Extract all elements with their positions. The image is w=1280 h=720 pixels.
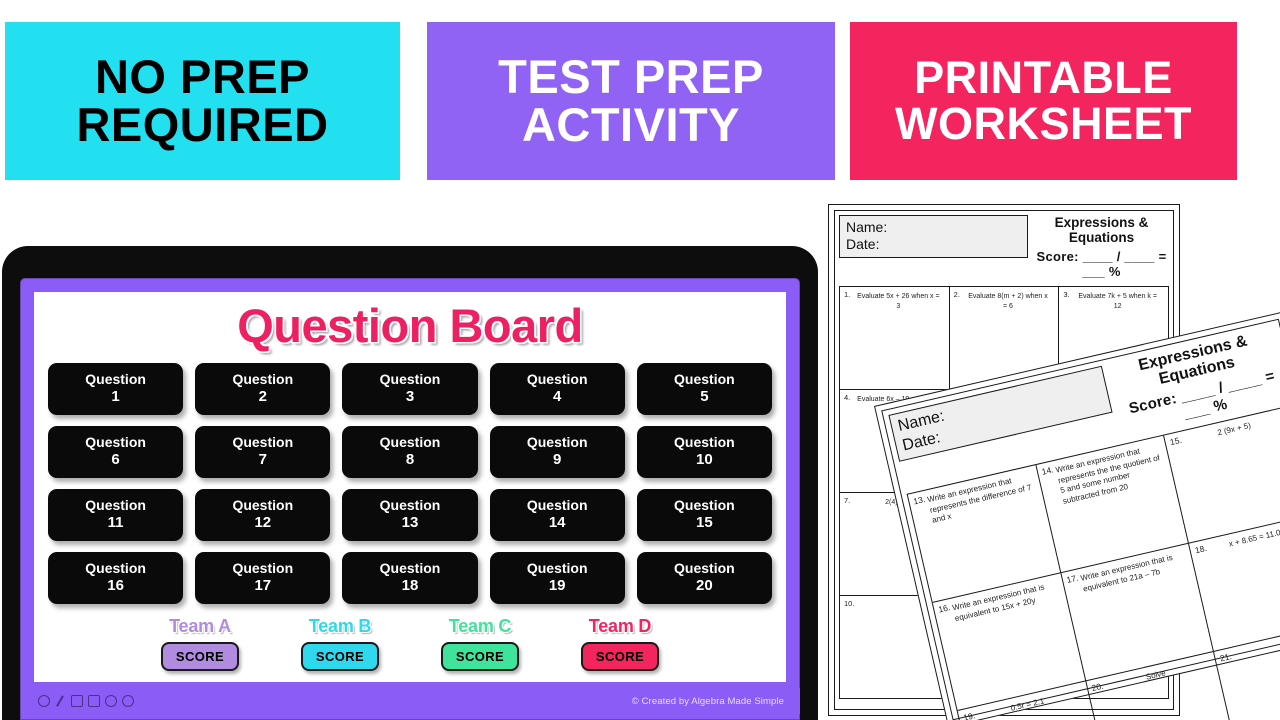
cell-text: Evaluate 7k + 5 when k = 12 — [1063, 290, 1164, 311]
name-date-box[interactable]: Name: Date: — [839, 215, 1028, 258]
question-label: Question — [674, 560, 735, 578]
marker-icon[interactable] — [71, 695, 83, 707]
cell-number: 1. — [844, 290, 850, 299]
worksheet-cell[interactable]: 1. Evaluate 5x + 26 when x = 3 — [840, 287, 950, 390]
question-number: 4 — [553, 388, 561, 407]
banner-no-prep: NO PREP REQUIRED — [5, 22, 400, 180]
worksheet-title-line1: Expressions & — [1034, 215, 1169, 230]
page-title: Question Board — [34, 298, 786, 353]
question-label: Question — [232, 371, 293, 389]
banner-printable: PRINTABLE WORKSHEET — [850, 22, 1237, 180]
question-number: 1 — [111, 388, 119, 407]
banner-no-prep-line1: NO PREP — [95, 53, 310, 101]
worksheet-stack: Name: Date: Expressions & Equations Scor… — [818, 196, 1280, 720]
question-number: 10 — [696, 451, 713, 470]
name-label: Name: — [846, 219, 1021, 236]
cell-number: 2. — [954, 290, 960, 299]
worksheet-score-line: Score: ____ / ____ = ___ % — [1034, 249, 1169, 279]
score-button-c[interactable]: SCORE — [441, 642, 519, 671]
pen-icon[interactable] — [55, 696, 66, 707]
annotation-toolbar[interactable] — [34, 695, 134, 707]
question-button-9[interactable]: Question 9 — [490, 426, 625, 478]
cell-number: 19. — [962, 710, 976, 720]
question-button-3[interactable]: Question 3 — [342, 363, 477, 415]
question-number: 17 — [254, 577, 271, 596]
question-number: 11 — [108, 514, 124, 533]
shapes-icon[interactable] — [105, 695, 117, 707]
question-button-14[interactable]: Question 14 — [490, 489, 625, 541]
credit-text: © Created by Algebra Made Simple — [632, 696, 800, 707]
score-button-d[interactable]: SCORE — [581, 642, 659, 671]
question-button-5[interactable]: Question 5 — [637, 363, 772, 415]
question-label: Question — [380, 434, 441, 452]
question-number: 5 — [700, 388, 708, 407]
team-block-d: Team D SCORE — [581, 616, 659, 671]
question-label: Question — [674, 371, 735, 389]
worksheet-title-line2: Equations — [1034, 230, 1169, 245]
question-button-12[interactable]: Question 12 — [195, 489, 330, 541]
team-name-a: Team A — [161, 616, 239, 637]
question-button-16[interactable]: Question 16 — [48, 552, 183, 604]
question-button-18[interactable]: Question 18 — [342, 552, 477, 604]
question-label: Question — [527, 371, 588, 389]
cell-number: 7. — [844, 496, 850, 505]
question-number: 13 — [402, 514, 419, 533]
worksheet-title-block: Expressions & Equations Score: ____ / __… — [1028, 215, 1169, 279]
cell-number: 3. — [1063, 290, 1069, 299]
eraser-icon[interactable] — [88, 695, 100, 707]
question-number: 15 — [696, 514, 713, 533]
team-name-d: Team D — [581, 616, 659, 637]
question-number: 16 — [107, 577, 124, 596]
question-button-1[interactable]: Question 1 — [48, 363, 183, 415]
question-label: Question — [85, 371, 146, 389]
banner-printable-line1: PRINTABLE — [914, 55, 1173, 101]
team-name-c: Team C — [441, 616, 519, 637]
question-label: Question — [674, 434, 735, 452]
cell-text: Evaluate 5x + 26 when x = 3 — [844, 290, 945, 311]
presentation-bottom-bar: © Created by Algebra Made Simple — [34, 688, 800, 714]
question-label: Question — [674, 497, 735, 515]
banner-test-prep: TEST PREP ACTIVITY — [427, 22, 835, 180]
tablet-screen: Question Board Question 1 Question 2 Que… — [34, 292, 786, 682]
question-button-2[interactable]: Question 2 — [195, 363, 330, 415]
score-button-a[interactable]: SCORE — [161, 642, 239, 671]
tablet-device: Question Board Question 1 Question 2 Que… — [2, 246, 818, 720]
question-button-8[interactable]: Question 8 — [342, 426, 477, 478]
question-label: Question — [380, 371, 441, 389]
question-number: 7 — [259, 451, 267, 470]
question-label: Question — [527, 434, 588, 452]
question-number: 18 — [402, 577, 419, 596]
team-block-a: Team A SCORE — [161, 616, 239, 671]
banner-no-prep-line2: REQUIRED — [76, 101, 328, 149]
question-number: 2 — [259, 388, 267, 407]
question-label: Question — [232, 434, 293, 452]
question-button-6[interactable]: Question 6 — [48, 426, 183, 478]
question-number: 9 — [553, 451, 561, 470]
question-number: 19 — [549, 577, 566, 596]
question-label: Question — [380, 560, 441, 578]
question-number: 12 — [254, 514, 271, 533]
team-scoreboard: Team A SCORE Team B SCORE Team C SCORE T… — [130, 616, 690, 671]
question-button-7[interactable]: Question 7 — [195, 426, 330, 478]
cell-text: Evaluate 8(m + 2) when x = 6 — [954, 290, 1055, 311]
banner-printable-line2: WORKSHEET — [895, 101, 1192, 147]
question-number: 14 — [549, 514, 566, 533]
score-button-b[interactable]: SCORE — [301, 642, 379, 671]
cell-number: 21. — [1219, 651, 1233, 663]
question-label: Question — [527, 560, 588, 578]
worksheet-header: Name: Date: Expressions & Equations Scor… — [839, 215, 1169, 279]
team-name-b: Team B — [301, 616, 379, 637]
date-label: Date: — [846, 236, 1021, 253]
team-block-c: Team C SCORE — [441, 616, 519, 671]
question-number: 8 — [406, 451, 414, 470]
question-label: Question — [380, 497, 441, 515]
question-number: 3 — [406, 388, 414, 407]
team-block-b: Team B SCORE — [301, 616, 379, 671]
question-number: 20 — [696, 577, 713, 596]
question-label: Question — [85, 434, 146, 452]
question-button-4[interactable]: Question 4 — [490, 363, 625, 415]
question-label: Question — [232, 497, 293, 515]
banner-test-prep-line2: ACTIVITY — [522, 101, 740, 149]
question-label: Question — [527, 497, 588, 515]
question-button-19[interactable]: Question 19 — [490, 552, 625, 604]
cursor-icon[interactable] — [38, 695, 50, 707]
question-label: Question — [85, 497, 146, 515]
cell-number: 10. — [844, 599, 854, 608]
question-label: Question — [85, 560, 146, 578]
more-icon[interactable] — [122, 695, 134, 707]
cell-number: 4. — [844, 393, 850, 402]
question-grid: Question 1 Question 2 Question 3 Questio… — [48, 363, 772, 604]
tablet-purple-frame: Question Board Question 1 Question 2 Que… — [20, 278, 800, 720]
question-button-17[interactable]: Question 17 — [195, 552, 330, 604]
banner-test-prep-line1: TEST PREP — [498, 53, 764, 101]
question-button-13[interactable]: Question 13 — [342, 489, 477, 541]
question-button-11[interactable]: Question 11 — [48, 489, 183, 541]
question-button-15[interactable]: Question 15 — [637, 489, 772, 541]
question-label: Question — [232, 560, 293, 578]
question-number: 6 — [111, 451, 119, 470]
question-button-20[interactable]: Question 20 — [637, 552, 772, 604]
question-button-10[interactable]: Question 10 — [637, 426, 772, 478]
